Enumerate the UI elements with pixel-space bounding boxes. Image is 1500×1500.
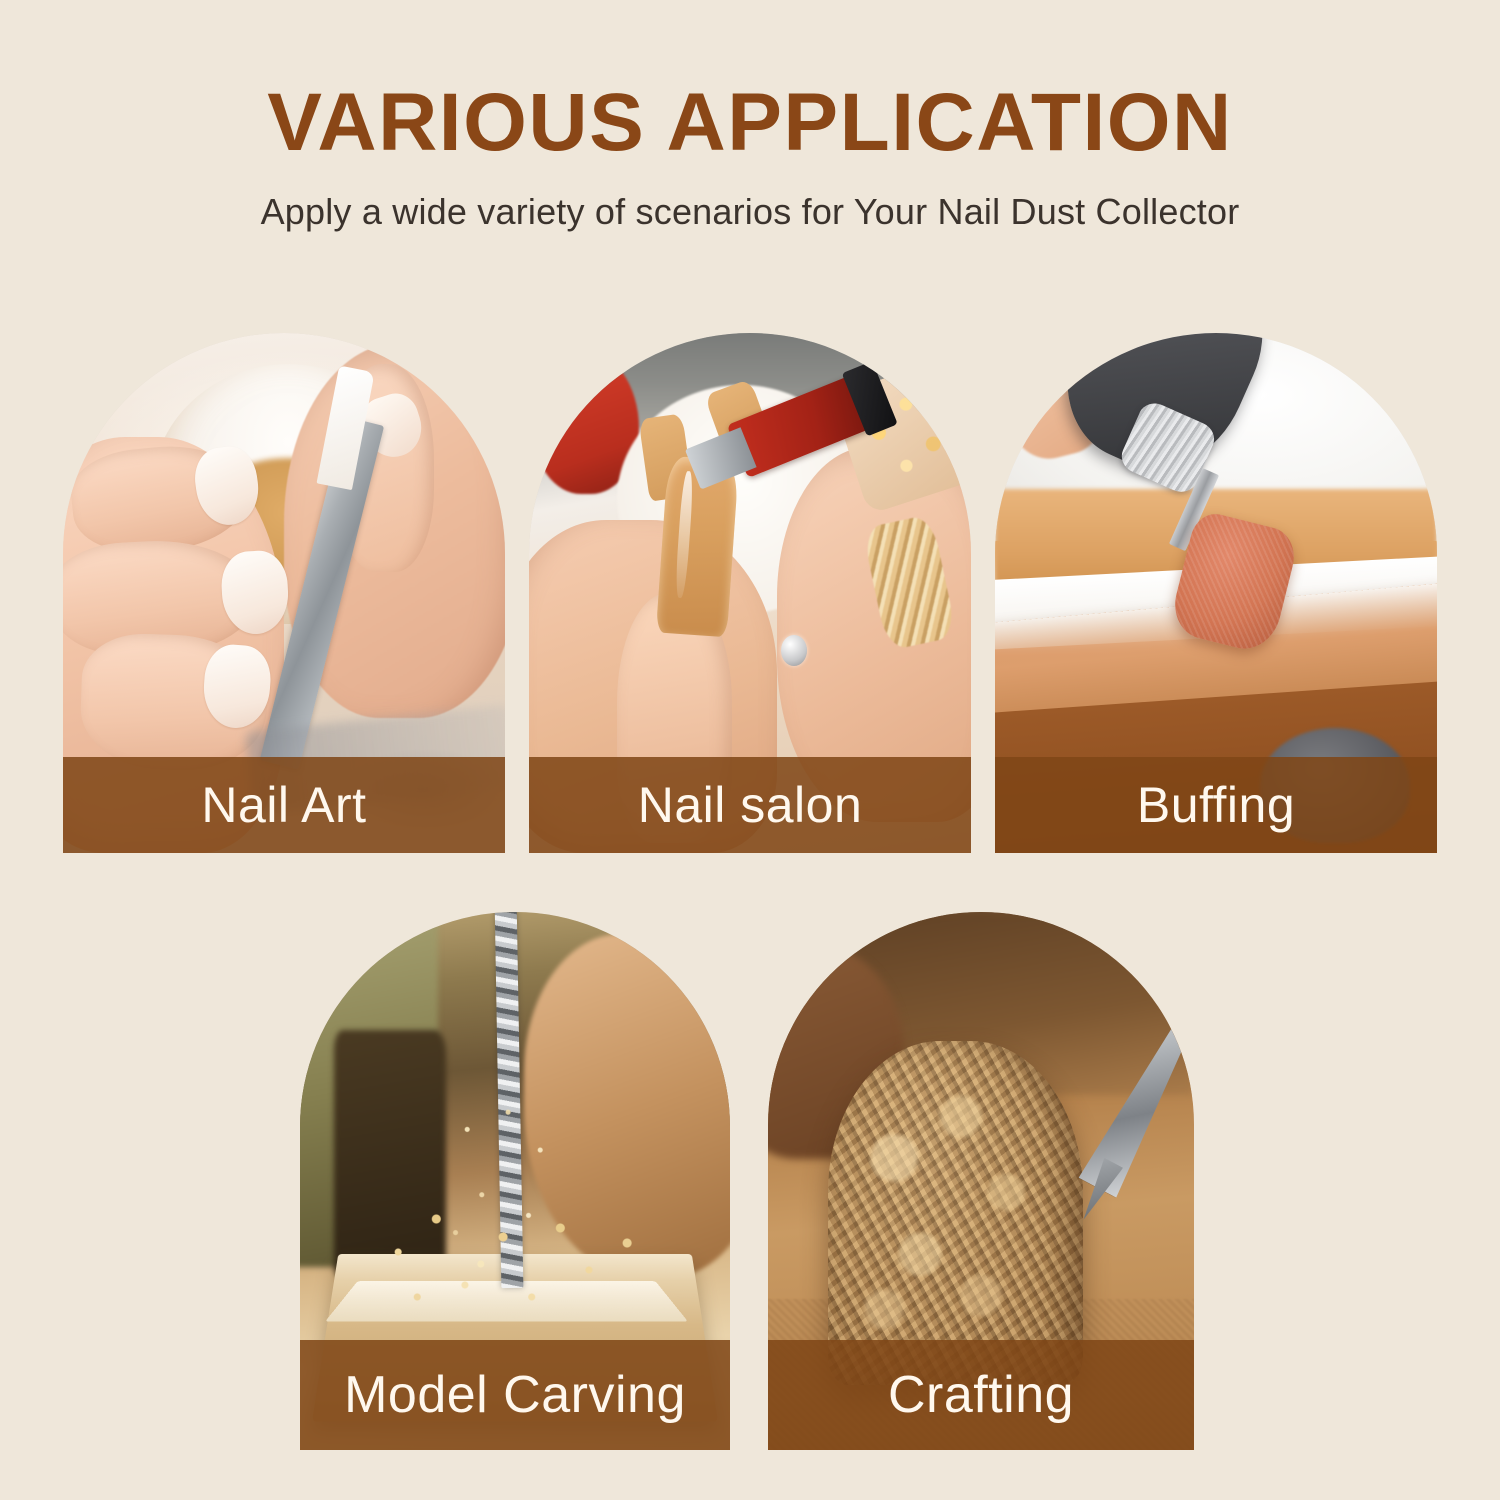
application-cards-bottom-row: Model Carving Crafting — [300, 912, 1198, 1450]
application-card-nail-art[interactable]: Nail Art — [63, 333, 505, 853]
card-label: Crafting — [888, 1369, 1074, 1421]
page-subtitle: Apply a wide variety of scenarios for Yo… — [0, 192, 1500, 232]
caption-bar: Crafting — [768, 1340, 1194, 1450]
long-fingernail-shape — [656, 456, 739, 637]
carved-block-shape — [828, 1041, 1084, 1385]
application-card-crafting[interactable]: Crafting — [768, 912, 1194, 1450]
caption-bar: Nail salon — [529, 757, 971, 853]
page-title: VARIOUS APPLICATION — [0, 82, 1500, 164]
caption-bar: Buffing — [995, 757, 1437, 853]
caption-bar: Model Carving — [300, 1340, 730, 1450]
header: VARIOUS APPLICATION Apply a wide variety… — [0, 82, 1500, 232]
application-card-nail-salon[interactable]: Nail salon — [529, 333, 971, 853]
card-label: Buffing — [1137, 780, 1295, 830]
card-label: Nail salon — [638, 780, 863, 830]
caption-bar: Nail Art — [63, 757, 505, 853]
card-label: Model Carving — [344, 1369, 686, 1421]
flying-dust-shape — [438, 1095, 584, 1267]
application-cards-top-row: Nail Art Nail salon — [63, 333, 1437, 853]
poster-root: VARIOUS APPLICATION Apply a wide variety… — [0, 0, 1500, 1500]
ring-shape — [781, 635, 808, 666]
application-card-model-carving[interactable]: Model Carving — [300, 912, 730, 1450]
card-label: Nail Art — [201, 780, 366, 830]
application-card-buffing[interactable]: Buffing — [995, 333, 1437, 853]
